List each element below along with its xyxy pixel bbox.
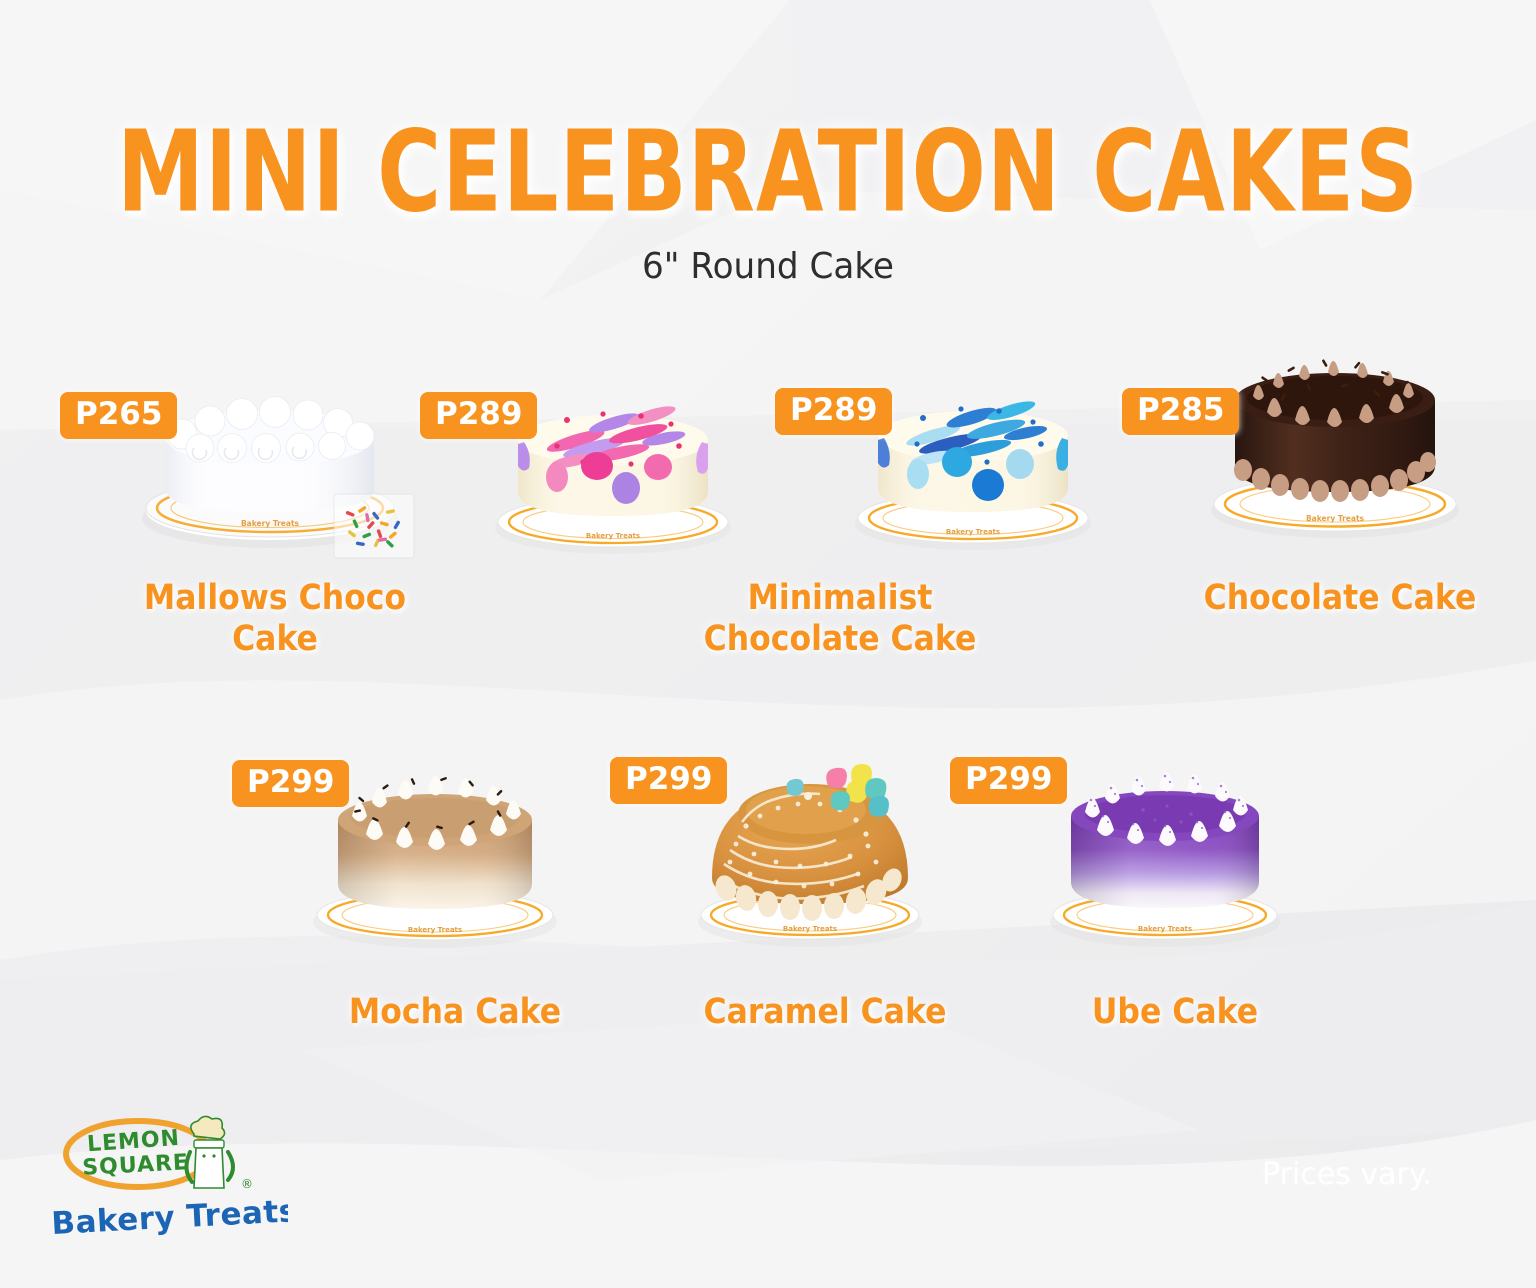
product-name-minimalist-chocolate: Minimalist Chocolate Cake — [660, 578, 1020, 661]
product-name-line: Chocolate Cake — [660, 619, 1020, 660]
svg-text:Bakery Treats: Bakery Treats — [586, 532, 640, 540]
price-badge: P289 — [420, 392, 537, 439]
product-name-mocha: Mocha Cake — [316, 992, 595, 1033]
svg-text:Bakery Treats: Bakery Treats — [408, 926, 462, 934]
prices-vary-note: Prices vary. — [1262, 1157, 1432, 1192]
price-badge: P299 — [950, 757, 1067, 804]
product-name-chocolate: Chocolate Cake — [1169, 578, 1511, 619]
cake-image-chocolate: Bakery Treats — [1195, 338, 1475, 548]
product-name-line: Mocha Cake — [316, 992, 595, 1033]
svg-text:Bakery Treats: Bakery Treats — [783, 925, 837, 933]
price-badge: P299 — [610, 757, 727, 804]
product-name-line: Mallows Choco — [131, 578, 419, 619]
svg-text:Bakery Treats: Bakery Treats — [1138, 925, 1192, 933]
product-name-line: Ube Cake — [1036, 992, 1315, 1033]
svg-text:Bakery Treats: Bakery Treats — [1306, 514, 1365, 523]
cake-image-ube: Bakery Treats — [1035, 752, 1295, 952]
price-badge: P285 — [1122, 388, 1239, 435]
product-name-line: Cake — [131, 619, 419, 660]
product-name-line: Minimalist — [660, 578, 1020, 619]
brand-logo: LEMON SQUARE ® Bakery Treats — [38, 1112, 288, 1262]
product-name-line: Chocolate Cake — [1169, 578, 1511, 619]
page-title: MINI CELEBRATION CAKES — [61, 120, 1474, 226]
product-name-line: Caramel Cake — [681, 992, 969, 1033]
price-badge: P265 — [60, 392, 177, 439]
page-subtitle: 6" Round Cake — [38, 246, 1497, 287]
svg-text:Bakery Treats: Bakery Treats — [241, 519, 300, 528]
price-badge: P299 — [232, 760, 349, 807]
sprinkles-packet-image — [330, 490, 418, 562]
registered-mark: ® — [241, 1177, 253, 1191]
poster-header: MINI CELEBRATION CAKES 6" Round Cake — [0, 0, 1536, 287]
product-name-ube: Ube Cake — [1036, 992, 1315, 1033]
price-badge: P289 — [775, 388, 892, 435]
brand-wordmark: Bakery Treats — [51, 1193, 288, 1242]
product-name-caramel: Caramel Cake — [681, 992, 969, 1033]
product-name-mallows-choco: Mallows Choco Cake — [131, 578, 419, 661]
svg-text:Bakery Treats: Bakery Treats — [946, 528, 1000, 536]
